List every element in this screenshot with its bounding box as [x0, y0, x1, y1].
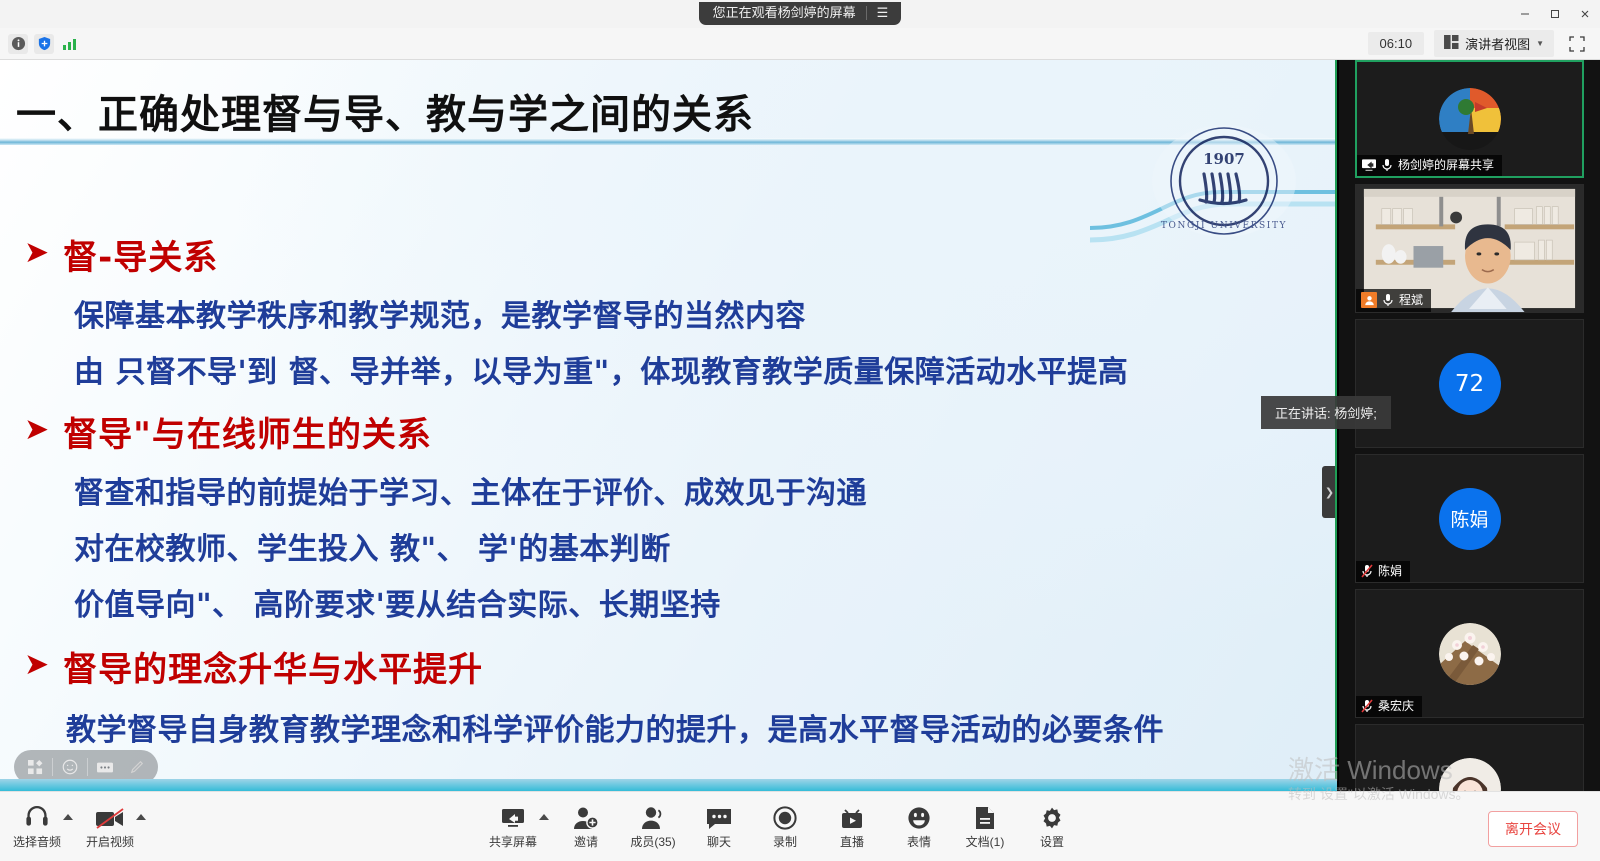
chat-label: 聊天	[707, 833, 731, 850]
info-icon[interactable]	[8, 34, 28, 54]
section-heading-text: 督导"与在线师生的关系	[63, 407, 432, 456]
meeting-toolbar: 06:10 演讲者视图 ▼	[0, 28, 1600, 60]
arrow-bullet-icon: ➤	[24, 415, 49, 445]
title-divider	[0, 138, 1335, 145]
slide-body-line: 督查和指导的前提始于学习、主体在于评价、成效见于沟通	[74, 468, 1335, 512]
chevron-right-icon[interactable]: ❯	[1322, 466, 1337, 518]
view-mode-label: 演讲者视图	[1465, 34, 1530, 53]
avatar: 陈娟	[1439, 488, 1501, 550]
maximize-icon[interactable]	[1540, 0, 1570, 28]
slide-title: 一、正确处理督与导、教与学之间的关系	[16, 82, 754, 140]
zoom-meeting-window: 您正在观看杨剑婷的屏幕 ☰	[0, 0, 1600, 861]
toolbar-left-icons	[0, 34, 80, 54]
mic-on-icon	[1381, 158, 1393, 172]
emoji-button[interactable]: 表情	[882, 800, 956, 850]
presentation-slide: 一、正确处理督与导、教与学之间的关系 1907 TONGJI UN	[0, 60, 1335, 787]
host-badge-icon	[1361, 292, 1377, 308]
chat-icon	[706, 800, 732, 830]
slide-body-line: 对在校教师、学生投入 教"、 学'的基本判断	[74, 524, 1335, 568]
participant-label: 陈娟	[1356, 561, 1410, 582]
participant-tile[interactable]: 杨剑婷的屏幕共享	[1355, 60, 1584, 178]
headset-icon	[24, 800, 50, 830]
share-screen-button[interactable]: 共享屏幕	[476, 800, 550, 850]
float-divider	[87, 758, 88, 776]
tongji-university-logo: 1907 TONGJI UNIVERSITY	[1148, 122, 1300, 240]
participant-label: 桑宏庆	[1356, 696, 1422, 717]
record-icon	[773, 800, 797, 830]
participants-button[interactable]: 成员(35)	[616, 800, 690, 850]
section-heading-text: 督导的理念升华与水平提升	[63, 642, 483, 691]
chevron-down-icon: ▼	[1536, 39, 1544, 48]
minimize-icon[interactable]	[1510, 0, 1540, 28]
window-controls	[1510, 0, 1600, 28]
painting-avatar	[1439, 88, 1501, 150]
hamburger-icon[interactable]: ☰	[877, 6, 888, 19]
video-off-icon	[95, 800, 125, 830]
slide-section-heading: ➤ 督导的理念升华与水平提升	[24, 642, 1335, 691]
mic-on-icon	[1382, 293, 1394, 307]
share-screen-icon	[500, 800, 526, 830]
shared-screen-stage[interactable]: 一、正确处理督与导、教与学之间的关系 1907 TONGJI UN	[0, 60, 1337, 791]
layout-icon	[1444, 35, 1459, 52]
screen-share-banner[interactable]: 您正在观看杨剑婷的屏幕 ☰	[699, 2, 902, 25]
gear-icon	[1040, 800, 1064, 830]
document-label: 文档(1)	[966, 833, 1005, 850]
video-caret-icon[interactable]	[136, 814, 146, 820]
live-icon	[840, 800, 864, 830]
video-button-label: 开启视频	[86, 833, 134, 850]
participant-name: 杨剑婷的屏幕共享	[1398, 159, 1494, 171]
emoji-icon	[907, 800, 931, 830]
video-button[interactable]: 开启视频	[73, 800, 147, 850]
avatar: 72	[1439, 353, 1501, 415]
shield-icon[interactable]	[34, 34, 54, 54]
screen-share-banner-text: 您正在观看杨剑婷的屏幕	[713, 6, 856, 19]
share-caret-icon[interactable]	[539, 814, 549, 820]
float-divider	[52, 758, 53, 776]
slide-body-line: 由 只督不导'到 督、导并举，以导为重"，体现教育教学质量保障活动水平提高	[74, 347, 1335, 391]
participant-name: 桑宏庆	[1378, 700, 1414, 712]
slide-body-line: 保障基本教学秩序和教学规范，是教学督导的当然内容	[74, 291, 1335, 335]
participant-label: 杨剑婷的屏幕共享	[1357, 155, 1502, 176]
pen-icon[interactable]	[122, 752, 152, 782]
emoji-icon[interactable]	[55, 752, 85, 782]
participant-name: 程斌	[1399, 294, 1423, 306]
mic-muted-icon	[1361, 699, 1373, 713]
arrow-bullet-icon: ➤	[24, 650, 49, 680]
svg-text:1907: 1907	[1203, 150, 1245, 168]
record-button[interactable]: 录制	[748, 800, 822, 850]
toolbar-right: 06:10 演讲者视图 ▼	[1368, 30, 1600, 57]
invite-button[interactable]: 邀请	[549, 800, 623, 850]
invite-label: 邀请	[574, 833, 598, 850]
audio-caret-icon[interactable]	[63, 814, 73, 820]
annotate-icon[interactable]	[90, 752, 120, 782]
screen-share-icon	[1362, 159, 1376, 171]
share-screen-label: 共享屏幕	[489, 833, 537, 850]
leave-meeting-button[interactable]: 离开会议	[1488, 811, 1578, 847]
record-label: 录制	[773, 833, 797, 850]
slide-section-heading: ➤ 督-导关系	[24, 230, 1335, 279]
slide-body: ➤ 督-导关系 保障基本教学秩序和教学规范，是教学督导的当然内容 由 只督不导'…	[0, 230, 1335, 761]
audio-button[interactable]: 选择音频	[0, 800, 74, 850]
blossom-avatar	[1439, 623, 1501, 685]
view-mode-selector[interactable]: 演讲者视图 ▼	[1434, 30, 1554, 57]
settings-button[interactable]: 设置	[1015, 800, 1089, 850]
network-bars-icon[interactable]	[60, 34, 80, 54]
chat-button[interactable]: 聊天	[682, 800, 756, 850]
participant-tile[interactable]: 桑宏庆	[1355, 589, 1584, 718]
settings-label: 设置	[1040, 833, 1064, 850]
grid-icon[interactable]	[20, 752, 50, 782]
document-button[interactable]: 文档(1)	[948, 800, 1022, 850]
document-icon	[974, 800, 996, 830]
meeting-control-bar: 选择音频 开启视频 共享屏幕 邀请 成员(35)	[0, 791, 1600, 861]
slide-section-heading: ➤ 督导"与在线师生的关系	[24, 407, 1335, 456]
speaking-tooltip: 正在讲话: 杨剑婷;	[1261, 396, 1391, 429]
slide-body-line: 价值导向"、 高阶要求'要从结合实际、长期坚持	[74, 580, 1335, 624]
slide-bottom-stripe	[0, 779, 1337, 791]
meeting-timer: 06:10	[1368, 32, 1425, 55]
live-button[interactable]: 直播	[815, 800, 889, 850]
close-icon[interactable]	[1570, 0, 1600, 28]
audio-button-label: 选择音频	[13, 833, 61, 850]
section-heading-text: 督-导关系	[63, 230, 218, 279]
participants-icon	[640, 800, 666, 830]
banner-divider	[866, 6, 867, 20]
participant-label: 程斌	[1356, 289, 1431, 312]
participants-label: 成员(35)	[630, 833, 675, 850]
arrow-bullet-icon: ➤	[24, 238, 49, 268]
title-bar: 您正在观看杨剑婷的屏幕 ☰	[0, 0, 1600, 28]
live-label: 直播	[840, 833, 864, 850]
participant-tile[interactable]: 程斌	[1355, 184, 1584, 313]
emoji-label: 表情	[907, 833, 931, 850]
invite-icon	[573, 800, 599, 830]
slide-body-line: 教学督导自身教育教学理念和科学评价能力的提升，是高水平督导活动的必要条件	[66, 705, 1335, 749]
participant-tile[interactable]: 陈娟 陈娟	[1355, 454, 1584, 583]
mic-muted-icon	[1361, 564, 1373, 578]
participant-name: 陈娟	[1378, 565, 1402, 577]
fullscreen-icon[interactable]	[1564, 33, 1590, 55]
